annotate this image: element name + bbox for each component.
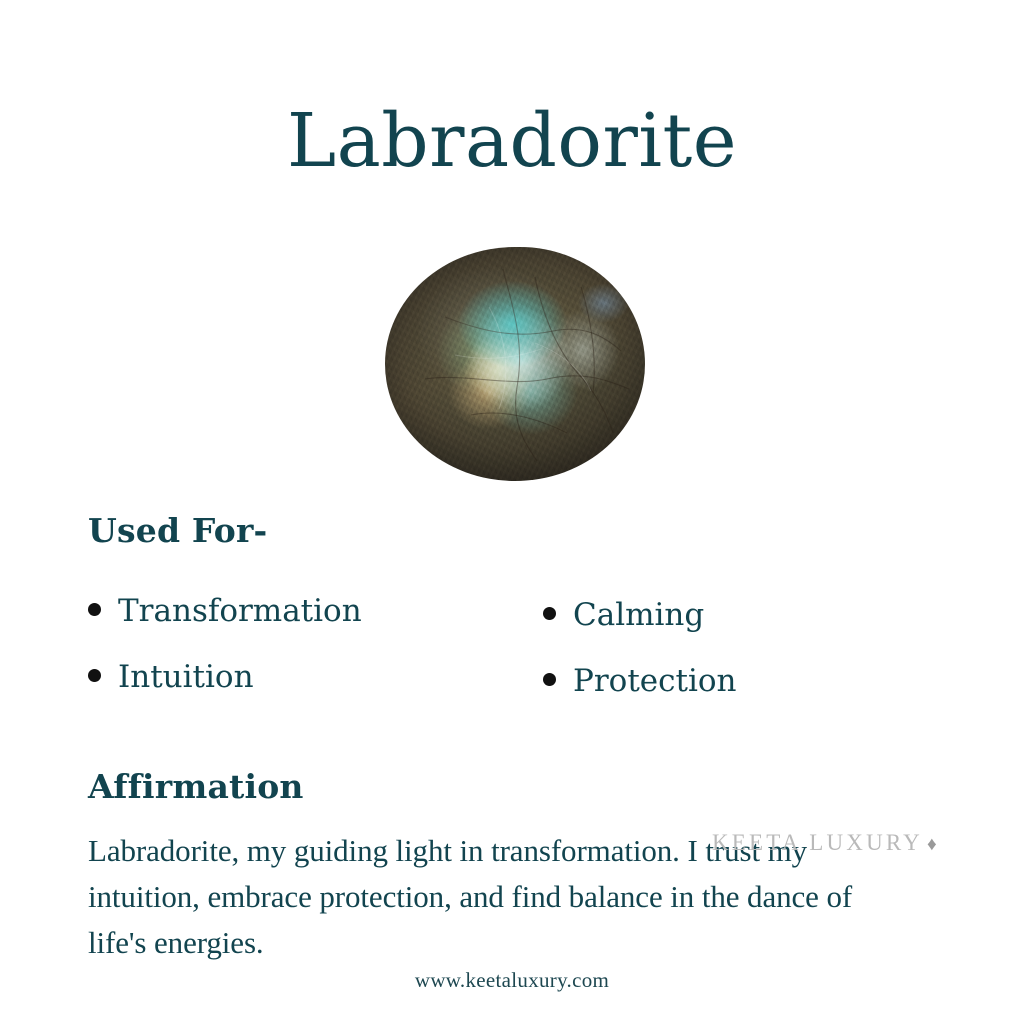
use-label: Protection — [573, 666, 737, 697]
list-item: Calming — [543, 600, 737, 666]
use-label: Calming — [573, 600, 704, 631]
use-label: Transformation — [118, 596, 362, 627]
list-item: Intuition — [88, 662, 362, 728]
used-for-column-right: Calming Protection — [543, 600, 737, 732]
bullet-icon — [88, 669, 101, 682]
affirmation-text: Labradorite, my guiding light in transfo… — [88, 828, 900, 966]
page-title: Labradorite — [0, 104, 1024, 178]
bullet-icon — [543, 607, 556, 620]
bullet-icon — [543, 673, 556, 686]
diamond-icon: ♦ — [923, 834, 940, 855]
crystal-info-card: Labradorite — [0, 0, 1024, 1024]
used-for-heading: Used For- — [88, 514, 267, 547]
bullet-icon — [88, 603, 101, 616]
list-item: Protection — [543, 666, 737, 732]
footer-website-url[interactable]: www.keetaluxury.com — [0, 968, 1024, 993]
stone-shading — [385, 247, 645, 481]
affirmation-heading: Affirmation — [88, 770, 304, 803]
use-label: Intuition — [118, 662, 254, 693]
stone-image — [385, 247, 645, 481]
labradorite-stone-graphic — [385, 247, 645, 481]
used-for-column-left: Transformation Intuition — [88, 596, 362, 728]
list-item: Transformation — [88, 596, 362, 662]
